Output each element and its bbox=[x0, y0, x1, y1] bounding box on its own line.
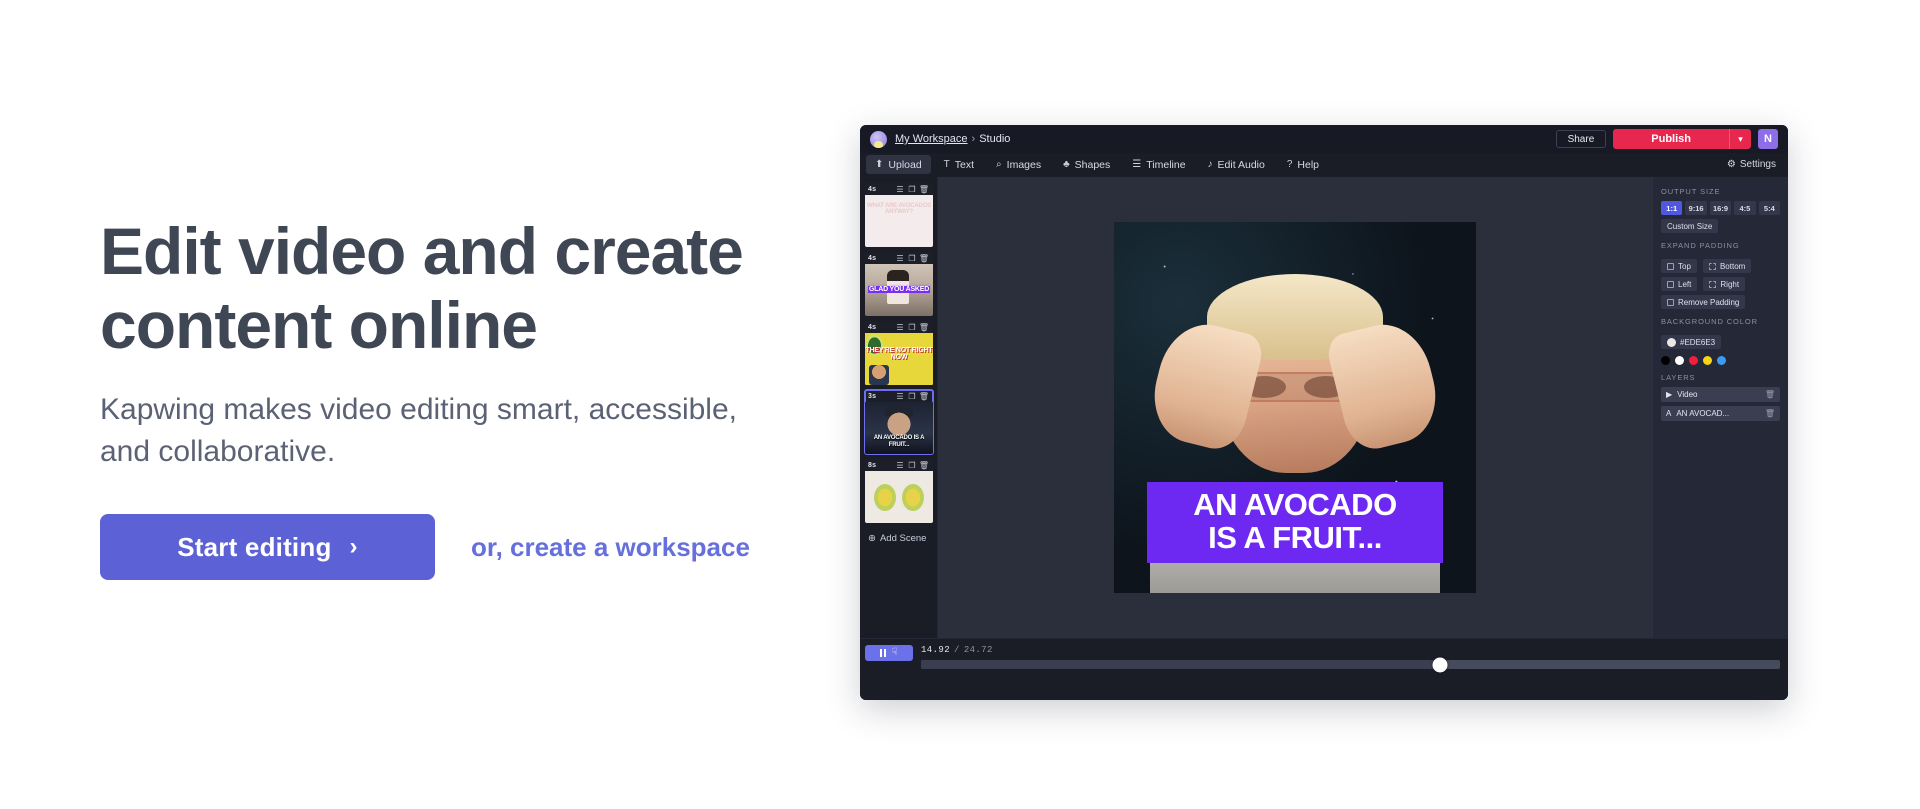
tool-images[interactable]: ⌕ Images bbox=[987, 155, 1050, 174]
background-color-value-button[interactable]: #EDE6E3 bbox=[1661, 335, 1721, 349]
timeline-icon: ☰ bbox=[1132, 159, 1141, 170]
plus-circle-icon: ⊕ bbox=[868, 533, 876, 544]
scene-item[interactable]: 4s ☰ ❐ 🗑 GLAD YOU ASKED bbox=[865, 252, 933, 316]
settings-label: Settings bbox=[1740, 159, 1776, 170]
current-time: 14.92 bbox=[921, 645, 950, 655]
tool-upload[interactable]: ⬆ Upload bbox=[866, 155, 931, 174]
trash-icon[interactable]: 🗑 bbox=[918, 323, 930, 332]
trash-icon[interactable]: 🗑 bbox=[1765, 390, 1775, 399]
scene-duration: 4s bbox=[868, 324, 876, 331]
tool-timeline-label: Timeline bbox=[1146, 159, 1185, 171]
time-readout: 14.92/24.72 bbox=[921, 645, 1780, 655]
padding-row-1: Top Bottom bbox=[1661, 255, 1780, 273]
breadcrumb-separator: › bbox=[972, 133, 976, 145]
swatch-blue[interactable] bbox=[1717, 356, 1726, 365]
scene-toolbar: 4s ☰ ❐ 🗑 bbox=[865, 183, 933, 195]
breadcrumb: My Workspace›Studio bbox=[895, 133, 1010, 145]
scene-item-selected[interactable]: 3s ☰ ❐ 🗑 AN AVOCADO IS A FRUIT... bbox=[865, 390, 933, 454]
scene-item[interactable]: 4s ☰ ❐ 🗑 THEY'RE NOT RIGHT NOW bbox=[865, 321, 933, 385]
publish-group: Publish ▾ bbox=[1613, 129, 1751, 149]
tool-shapes-label: Shapes bbox=[1075, 159, 1111, 171]
caption-overlay[interactable]: AN AVOCADO IS A FRUIT... bbox=[1147, 482, 1444, 563]
search-icon: ⌕ bbox=[996, 159, 1002, 170]
output-size-label: Output Size bbox=[1661, 187, 1780, 196]
layer-item-text[interactable]: A AN AVOCAD... 🗑 bbox=[1661, 406, 1780, 421]
total-time: 24.72 bbox=[964, 645, 993, 655]
tool-edit-audio-label: Edit Audio bbox=[1218, 159, 1265, 171]
create-workspace-link[interactable]: or, create a workspace bbox=[471, 532, 750, 563]
cta-row: Start editing › or, create a workspace bbox=[100, 514, 860, 580]
scene-toolbar: 3s ☰ ❐ 🗑 bbox=[865, 390, 933, 402]
tool-upload-label: Upload bbox=[888, 159, 921, 171]
scene-caption: WHAT ARE AVOCADOS ANYWAY? bbox=[865, 203, 933, 216]
pause-icon bbox=[880, 649, 886, 657]
scene-timeline-icon[interactable]: ☰ bbox=[894, 323, 906, 332]
shapes-icon: ♣ bbox=[1063, 159, 1070, 170]
background-color-value: #EDE6E3 bbox=[1680, 338, 1715, 347]
chevron-down-icon[interactable]: ▾ bbox=[1729, 129, 1751, 149]
swatch-white[interactable] bbox=[1675, 356, 1684, 365]
padding-left-checkbox[interactable]: Left bbox=[1661, 277, 1697, 291]
add-scene-button[interactable]: ⊕ Add Scene bbox=[865, 528, 932, 544]
scene-thumbnail bbox=[865, 471, 933, 523]
scene-rail: 4s ☰ ❐ 🗑 WHAT ARE AVOCADOS ANYWAY? 4s ☰ … bbox=[860, 177, 938, 638]
duplicate-icon[interactable]: ❐ bbox=[906, 461, 918, 470]
properties-panel: Output Size 1:1 9:16 16:9 4:5 5:4 Custom… bbox=[1652, 177, 1788, 638]
settings-button[interactable]: ⚙ Settings bbox=[1727, 159, 1782, 170]
checkbox-icon bbox=[1709, 263, 1716, 270]
breadcrumb-page: Studio bbox=[979, 133, 1010, 145]
add-scene-label: Add Scene bbox=[880, 533, 926, 544]
scene-caption: AN AVOCADO IS A FRUIT... bbox=[865, 435, 933, 448]
scene-caption: THEY'RE NOT RIGHT NOW bbox=[865, 347, 933, 362]
text-a-icon: A bbox=[1666, 409, 1671, 418]
padding-right-checkbox[interactable]: Right bbox=[1703, 277, 1745, 291]
background-color-label: Background Color bbox=[1661, 317, 1780, 326]
trash-icon[interactable]: 🗑 bbox=[1765, 409, 1775, 418]
scene-timeline-icon[interactable]: ☰ bbox=[894, 461, 906, 470]
caption-line-2: IS A FRUIT... bbox=[1153, 522, 1438, 555]
duplicate-icon[interactable]: ❐ bbox=[906, 185, 918, 194]
scene-toolbar: 4s ☰ ❐ 🗑 bbox=[865, 252, 933, 264]
scene-timeline-icon[interactable]: ☰ bbox=[894, 254, 906, 263]
hero-subtitle: Kapwing makes video editing smart, acces… bbox=[100, 389, 860, 474]
padding-top-checkbox[interactable]: Top bbox=[1661, 259, 1697, 273]
ratio-16-9[interactable]: 16:9 bbox=[1710, 201, 1731, 215]
color-dot-icon bbox=[1667, 338, 1676, 347]
layer-item-video[interactable]: ▶ Video 🗑 bbox=[1661, 387, 1780, 402]
scene-thumbnail: WHAT ARE AVOCADOS ANYWAY? bbox=[865, 195, 933, 247]
app-toolbar: ⬆ Upload T Text ⌕ Images ♣ Shapes ☰ Time… bbox=[860, 153, 1788, 177]
tool-help[interactable]: ? Help bbox=[1278, 155, 1328, 174]
layer-name: Video bbox=[1677, 390, 1697, 399]
pointing-hand-icon: ☟ bbox=[891, 648, 897, 658]
publish-button[interactable]: Publish bbox=[1613, 129, 1729, 149]
caption-line-1: AN AVOCADO bbox=[1193, 487, 1396, 522]
landing-page: Edit video and create content online Kap… bbox=[0, 0, 1920, 809]
checkbox-icon bbox=[1667, 299, 1674, 306]
scrubber-track[interactable] bbox=[921, 660, 1780, 669]
tool-help-label: Help bbox=[1297, 159, 1319, 171]
tool-text[interactable]: T Text bbox=[935, 155, 983, 174]
upload-icon: ⬆ bbox=[875, 159, 883, 170]
share-button[interactable]: Share bbox=[1556, 130, 1607, 148]
page-title: Edit video and create content online bbox=[100, 215, 860, 363]
start-editing-button[interactable]: Start editing › bbox=[100, 514, 435, 580]
scene-duration: 4s bbox=[868, 186, 876, 193]
chevron-right-icon: › bbox=[350, 535, 358, 559]
play-triangle-icon: ▶ bbox=[1666, 390, 1672, 399]
padding-right-label: Right bbox=[1720, 280, 1739, 289]
ratio-5-4[interactable]: 5:4 bbox=[1759, 201, 1780, 215]
app-body: 4s ☰ ❐ 🗑 WHAT ARE AVOCADOS ANYWAY? 4s ☰ … bbox=[860, 177, 1788, 638]
pause-button[interactable]: ☟ bbox=[865, 645, 913, 661]
custom-size-button[interactable]: Custom Size bbox=[1661, 219, 1718, 233]
ratio-4-5[interactable]: 4:5 bbox=[1734, 201, 1755, 215]
start-editing-label: Start editing bbox=[177, 532, 331, 563]
custom-size-label: Custom Size bbox=[1667, 222, 1712, 231]
trash-icon[interactable]: 🗑 bbox=[918, 254, 930, 263]
scene-thumbnail: AN AVOCADO IS A FRUIT... bbox=[865, 402, 933, 454]
checkbox-icon bbox=[1709, 281, 1716, 288]
tool-shapes[interactable]: ♣ Shapes bbox=[1054, 155, 1119, 174]
scene-toolbar: 8s ☰ ❐ 🗑 bbox=[865, 459, 933, 471]
playhead-handle[interactable] bbox=[1432, 657, 1447, 672]
tool-text-label: Text bbox=[955, 159, 974, 171]
trash-icon[interactable]: 🗑 bbox=[918, 392, 930, 401]
scene-thumbnail: THEY'RE NOT RIGHT NOW bbox=[865, 333, 933, 385]
padding-bottom-label: Bottom bbox=[1720, 262, 1745, 271]
timeline-scrubber-area: 14.92/24.72 bbox=[921, 645, 1780, 669]
layers-label: Layers bbox=[1661, 373, 1780, 382]
duplicate-icon[interactable]: ❐ bbox=[906, 392, 918, 401]
trash-icon[interactable]: 🗑 bbox=[918, 461, 930, 470]
breadcrumb-workspace[interactable]: My Workspace bbox=[895, 133, 968, 145]
header-actions: Share Publish ▾ N bbox=[1556, 129, 1778, 149]
scene-duration: 8s bbox=[868, 462, 876, 469]
ratio-group: 1:1 9:16 16:9 4:5 5:4 bbox=[1661, 201, 1780, 215]
tool-edit-audio[interactable]: ♪ Edit Audio bbox=[1199, 155, 1274, 174]
swatch-yellow[interactable] bbox=[1703, 356, 1712, 365]
scene-duration: 3s bbox=[868, 393, 876, 400]
scene-thumbnail: GLAD YOU ASKED bbox=[865, 264, 933, 316]
studio-app-screenshot: My Workspace›Studio Share Publish ▾ N ⬆ … bbox=[860, 125, 1788, 700]
layer-name: AN AVOCAD... bbox=[1676, 409, 1729, 418]
color-swatches bbox=[1661, 356, 1780, 365]
duplicate-icon[interactable]: ❐ bbox=[906, 254, 918, 263]
video-preview[interactable]: AN AVOCADO IS A FRUIT... bbox=[1114, 222, 1476, 593]
remove-padding-label: Remove Padding bbox=[1678, 298, 1739, 307]
time-separator: / bbox=[954, 645, 960, 655]
scene-toolbar: 4s ☰ ❐ 🗑 bbox=[865, 321, 933, 333]
app-header: My Workspace›Studio Share Publish ▾ N bbox=[860, 125, 1788, 153]
tool-timeline[interactable]: ☰ Timeline bbox=[1123, 155, 1194, 174]
padding-left-label: Left bbox=[1678, 280, 1691, 289]
swatch-red[interactable] bbox=[1689, 356, 1698, 365]
scene-item[interactable]: 8s ☰ ❐ 🗑 bbox=[865, 459, 933, 523]
trash-icon[interactable]: 🗑 bbox=[918, 185, 930, 194]
duplicate-icon[interactable]: ❐ bbox=[906, 323, 918, 332]
audio-note-icon: ♪ bbox=[1208, 159, 1213, 170]
expand-padding-label: Expand Padding bbox=[1661, 241, 1780, 250]
padding-row-3: Remove Padding bbox=[1661, 291, 1780, 309]
scene-timeline-icon[interactable]: ☰ bbox=[894, 185, 906, 194]
playback-bar: ☟ 14.92/24.72 bbox=[860, 638, 1788, 700]
ratio-1-1[interactable]: 1:1 bbox=[1661, 201, 1682, 215]
ratio-9-16[interactable]: 9:16 bbox=[1685, 201, 1706, 215]
remove-padding-checkbox[interactable]: Remove Padding bbox=[1661, 295, 1745, 309]
gear-icon: ⚙ bbox=[1727, 159, 1736, 170]
user-avatar[interactable]: N bbox=[1758, 129, 1778, 149]
scene-caption: GLAD YOU ASKED bbox=[865, 286, 933, 293]
text-icon: T bbox=[944, 159, 950, 170]
tool-images-label: Images bbox=[1007, 159, 1041, 171]
scrubber-progress bbox=[921, 660, 1440, 669]
padding-row-2: Left Right bbox=[1661, 273, 1780, 291]
checkbox-icon bbox=[1667, 281, 1674, 288]
hero-section: Edit video and create content online Kap… bbox=[100, 215, 860, 580]
workspace-avatar-icon bbox=[870, 131, 887, 148]
swatch-black[interactable] bbox=[1661, 356, 1670, 365]
padding-top-label: Top bbox=[1678, 262, 1691, 271]
scene-item[interactable]: 4s ☰ ❐ 🗑 WHAT ARE AVOCADOS ANYWAY? bbox=[865, 183, 933, 247]
scene-timeline-icon[interactable]: ☰ bbox=[894, 392, 906, 401]
padding-bottom-checkbox[interactable]: Bottom bbox=[1703, 259, 1751, 273]
scene-duration: 4s bbox=[868, 255, 876, 262]
help-icon: ? bbox=[1287, 159, 1293, 170]
canvas-area[interactable]: AN AVOCADO IS A FRUIT... bbox=[938, 177, 1652, 638]
checkbox-icon bbox=[1667, 263, 1674, 270]
